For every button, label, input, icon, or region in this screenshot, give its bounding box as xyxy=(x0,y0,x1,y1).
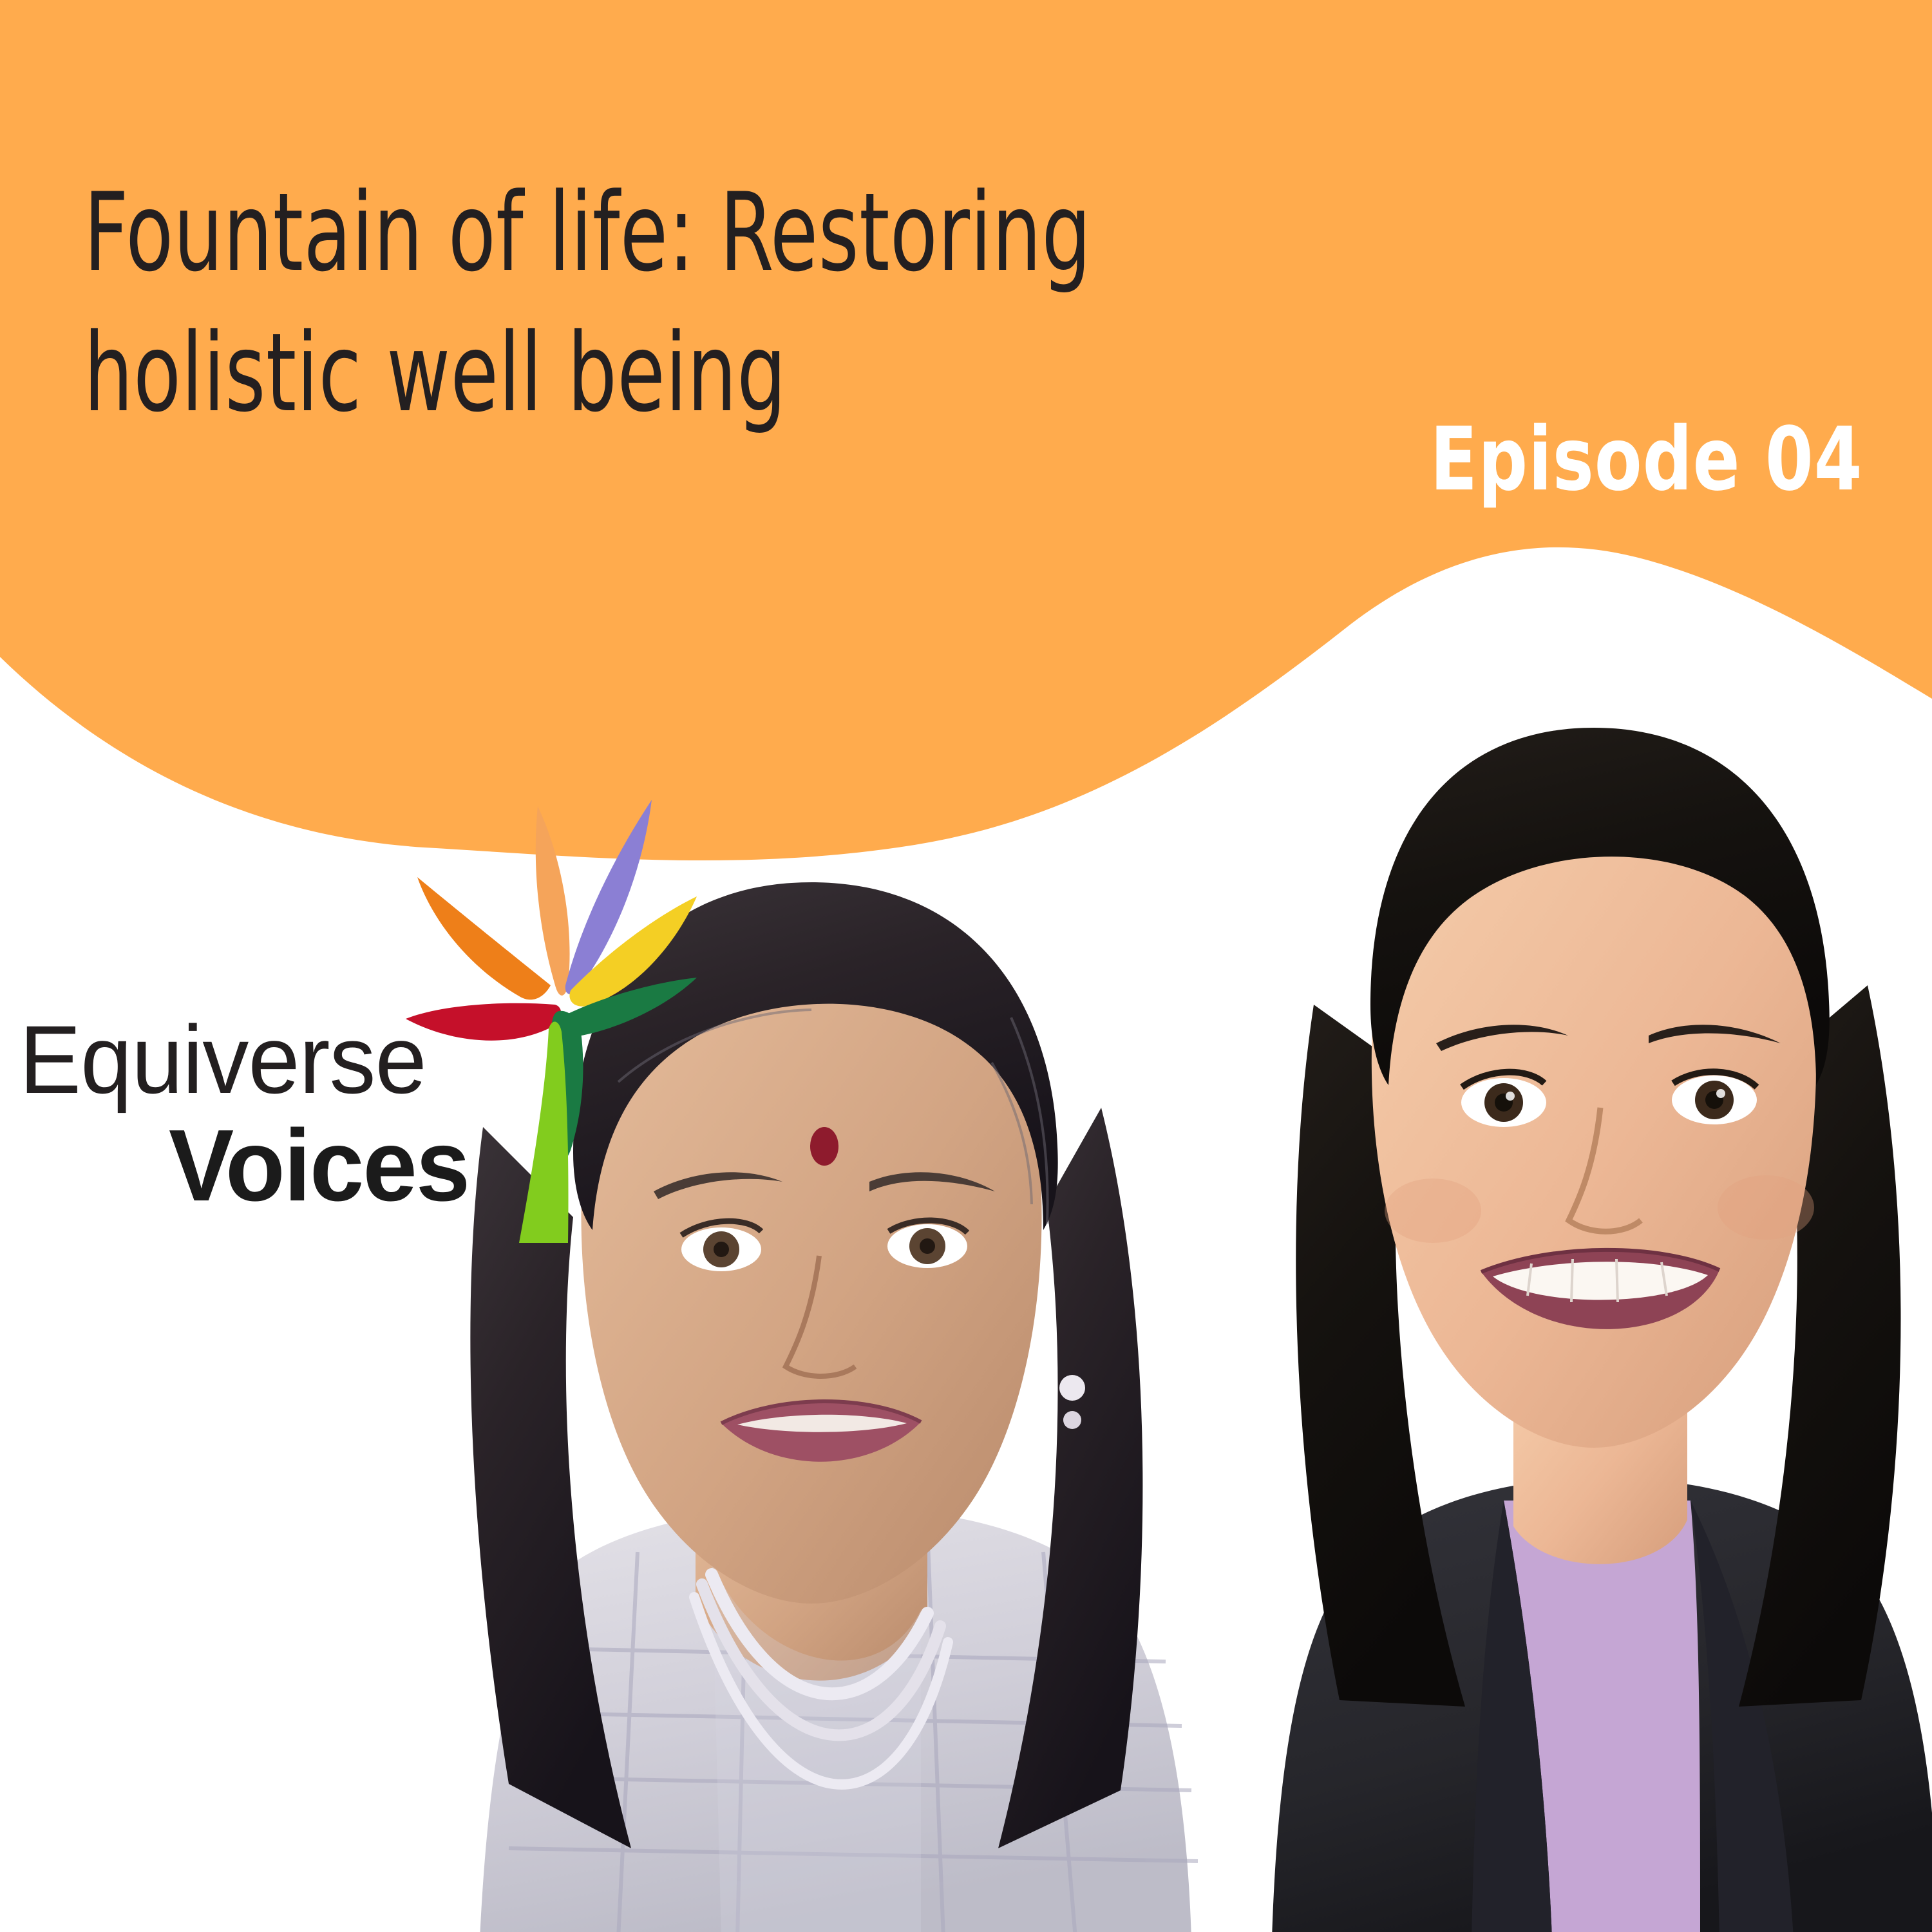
brand-wordmark: Equiverse Voices xyxy=(19,1011,535,1218)
brand-logo: Equiverse Voices xyxy=(19,792,702,1269)
podcast-cover-art: Fountain of life: Restoring holistic wel… xyxy=(0,0,1932,1932)
page-title: Fountain of life: Restoring holistic wel… xyxy=(84,162,1269,444)
episode-badge: Episode 04 xyxy=(1430,409,1862,511)
guest-photo-right xyxy=(1211,644,1932,1932)
brand-name-light: Equiverse xyxy=(19,1011,514,1108)
brand-name-bold: Voices xyxy=(169,1114,520,1218)
